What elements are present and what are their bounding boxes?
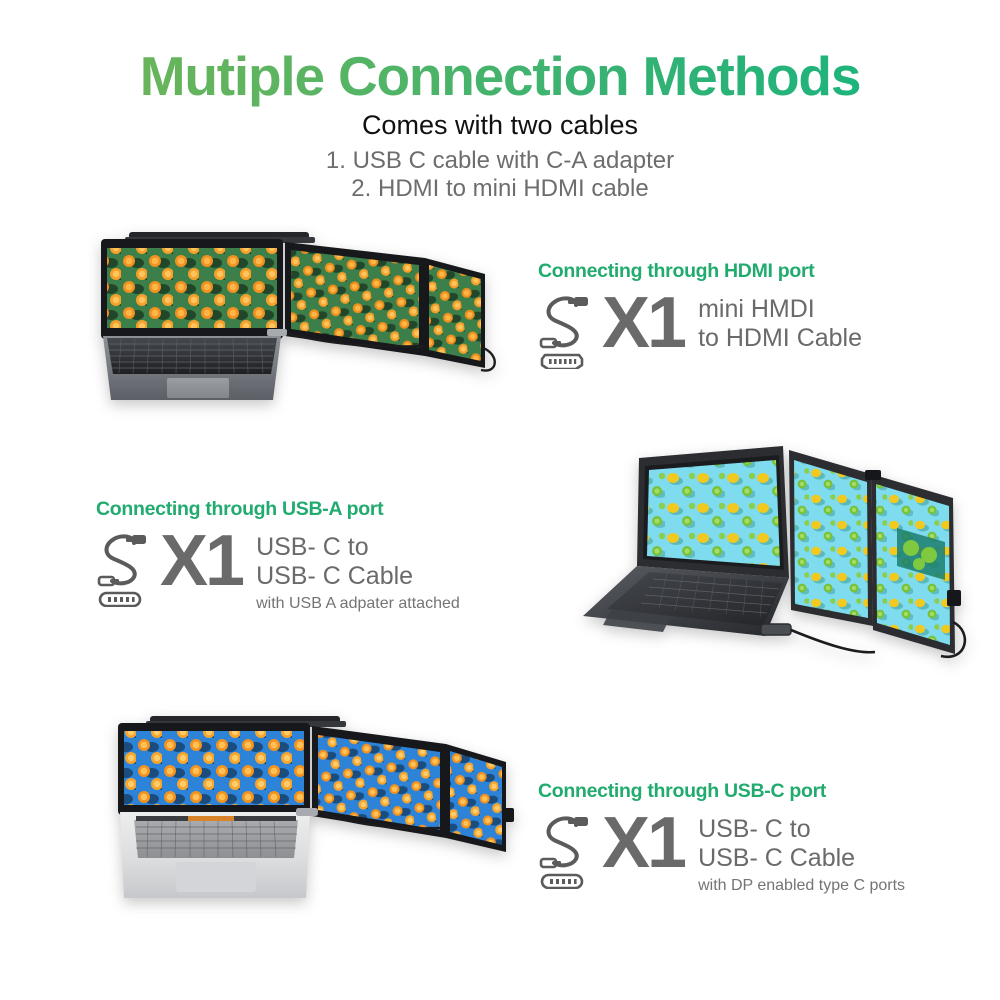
section-usb-a-quantity: X1 [160,531,242,593]
hdmi-cable-icon [538,291,592,374]
infographic-page: Mutiple Connection Methods Comes with tw… [0,0,1000,1000]
section-hdmi-desc-line2: to HDMI Cable [698,324,862,353]
page-title: Mutiple Connection Methods [0,44,1000,108]
illustration-laptop-usb-c [110,712,520,907]
laptop-hdmi-svg [95,228,505,428]
section-usb-a-body: X1 USB- C to USB- C Cable with USB A adp… [96,527,460,613]
laptop-usb-c-svg [110,712,520,907]
section-usb-c: Connecting through USB-C port [538,780,905,895]
section-hdmi: Connecting through HDMI port [538,260,862,374]
section-usb-a-heading: Connecting through USB-A port [96,498,460,521]
section-usb-a-note: with USB A adpater attached [256,595,460,613]
section-usb-a-desc: USB- C to USB- C Cable with USB A adpate… [256,527,460,613]
section-hdmi-heading: Connecting through HDMI port [538,260,862,283]
section-usb-c-quantity: X1 [602,813,684,875]
laptop-usb-a-svg [575,440,975,685]
cable-list-item-1: 1. USB C cable with C-A adapter [0,147,1000,175]
section-usb-c-desc-line2: USB- C Cable [698,844,905,873]
section-usb-a-desc-line2: USB- C Cable [256,562,460,591]
section-usb-c-desc: USB- C to USB- C Cable with DP enabled t… [698,809,905,895]
illustration-laptop-usb-a [575,440,975,685]
section-usb-a: Connecting through USB-A port [96,498,460,613]
page-subtitle: Comes with two cables [0,110,1000,141]
section-usb-c-heading: Connecting through USB-C port [538,780,905,803]
section-usb-c-note: with DP enabled type C ports [698,877,905,895]
usb-c-cable-icon [96,529,150,612]
section-hdmi-desc-line1: mini HMDI [698,295,862,324]
section-usb-c-body: X1 USB- C to USB- C Cable with DP enable… [538,809,905,895]
cable-list: 1. USB C cable with C-A adapter 2. HDMI … [0,147,1000,204]
section-usb-c-desc-line1: USB- C to [698,815,905,844]
section-hdmi-desc: mini HMDI to HDMI Cable [698,289,862,353]
cable-list-item-2: 2. HDMI to mini HDMI cable [0,175,1000,203]
usb-c-cable-icon [538,811,592,894]
section-hdmi-quantity: X1 [602,293,684,355]
illustration-laptop-hdmi [95,228,505,428]
section-hdmi-body: X1 mini HMDI to HDMI Cable [538,289,862,374]
section-usb-a-desc-line1: USB- C to [256,533,460,562]
